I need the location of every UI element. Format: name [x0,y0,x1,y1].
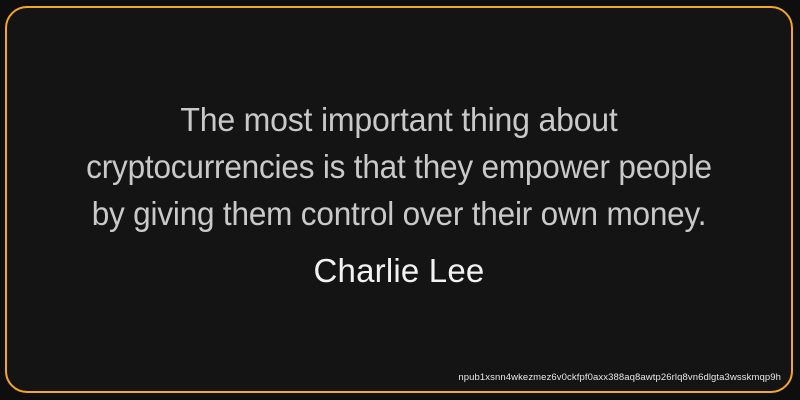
quote-card: The most important thing about cryptocur… [5,6,793,393]
quote-card-content: The most important thing about cryptocur… [7,8,791,391]
quote-text: The most important thing about cryptocur… [9,96,789,237]
quote-author-name: Charlie Lee [7,251,791,291]
quote-line-1: The most important thing about [21,96,778,143]
quote-line-2: cryptocurrencies is that they empower pe… [27,143,772,190]
quote-line-3: by giving them control over their own mo… [27,190,772,237]
npub-identifier: npub1xsnn4wkezmez6v0ckfpf0axx388aq8awtp2… [458,372,781,383]
